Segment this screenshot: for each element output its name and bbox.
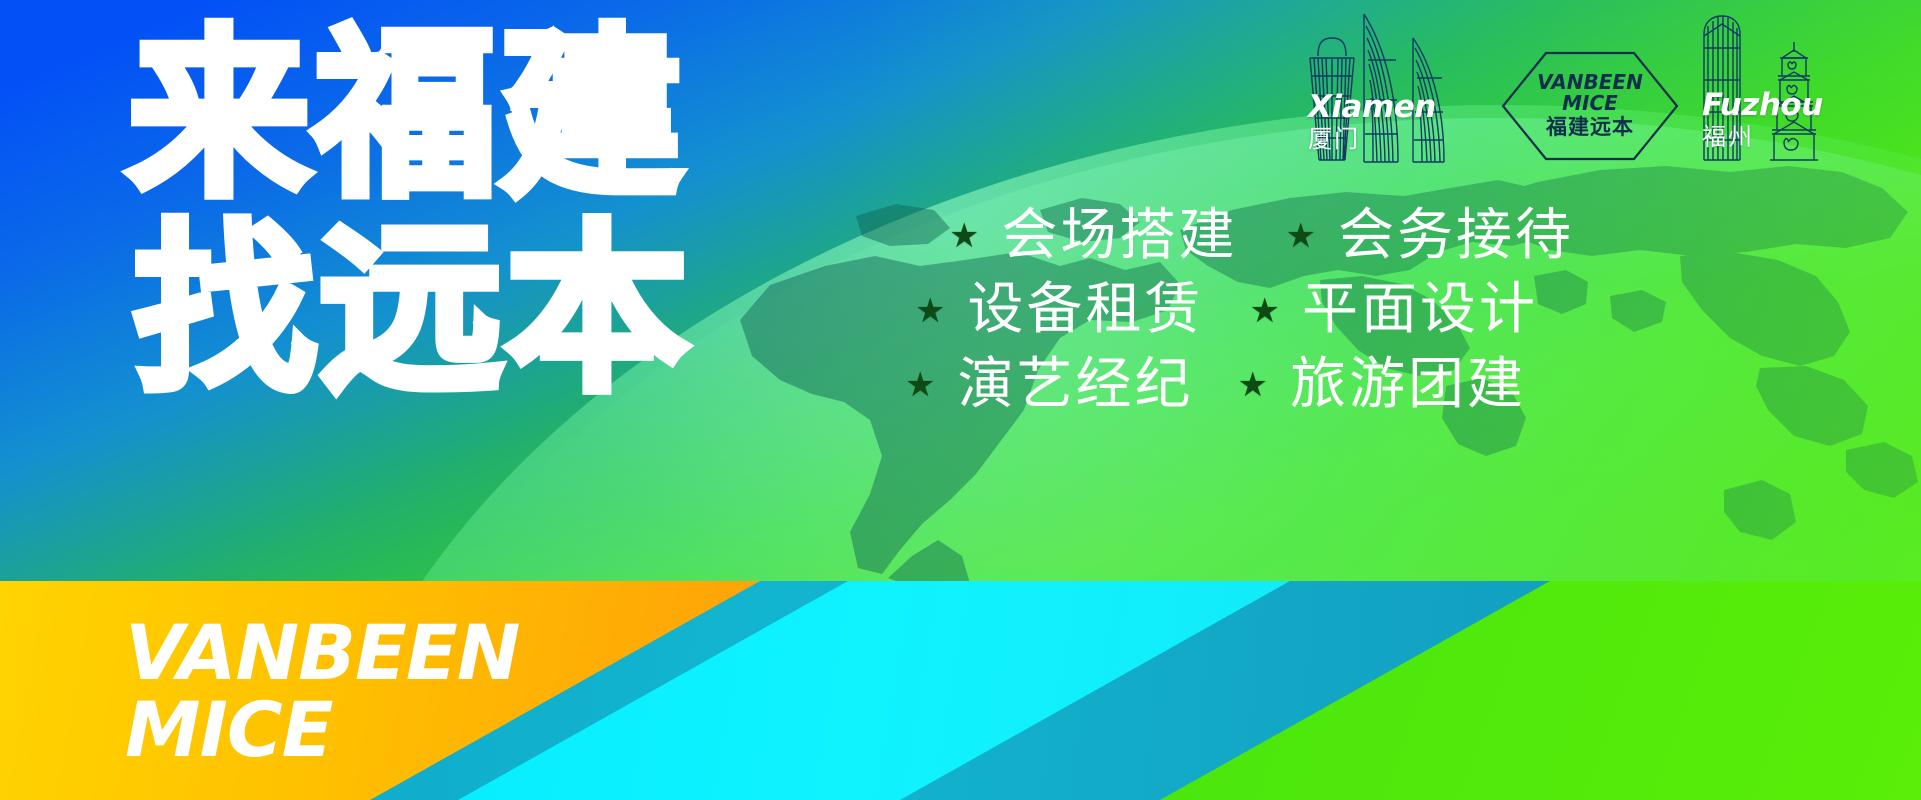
hexagon-logo-cn: 福建远本 — [1546, 116, 1634, 139]
city-name-en: Fuzhou — [1702, 90, 1823, 121]
brandmark-line-1: VANBEEN — [125, 617, 519, 690]
brandmark: VANBEEN MICE — [125, 617, 519, 767]
banner-bottom-strip: VANBEEN MICE — [0, 581, 1921, 800]
city-logo-lockup: Xiamen 厦门 VANBEEN MICE 福建远本 — [1300, 4, 1920, 184]
star-icon: ★ — [905, 368, 935, 402]
star-icon: ★ — [1285, 219, 1315, 253]
hexagon-logo-line-2: MICE — [1562, 93, 1618, 113]
city-name-en: Xiamen — [1308, 92, 1436, 123]
service-item-venue-construction: ★ 会场搭建 — [949, 206, 1237, 266]
service-label: 会场搭建 — [1001, 206, 1237, 266]
star-icon: ★ — [915, 294, 945, 328]
service-label: 旅游团建 — [1290, 355, 1526, 415]
brandmark-line-2: MICE — [125, 694, 519, 767]
service-label: 设备租赁 — [967, 280, 1203, 340]
city-label-xiamen: Xiamen 厦门 — [1308, 92, 1436, 152]
service-item-performance-agency: ★ 演艺经纪 — [905, 355, 1193, 415]
service-row: ★ 演艺经纪 ★ 旅游团建 — [905, 355, 1574, 415]
star-icon: ★ — [1237, 368, 1267, 402]
service-row: ★ 设备租赁 ★ 平面设计 — [905, 280, 1574, 340]
star-icon: ★ — [949, 219, 979, 253]
service-item-tourism-teambuilding: ★ 旅游团建 — [1237, 355, 1525, 415]
headline-line-2: 找远本 — [134, 225, 692, 396]
promotional-banner: 来福建 找远本 ★ 会场搭建 ★ 会务接待 ★ 设备租赁 — [0, 0, 1921, 800]
hexagon-logo-line-1: VANBEEN — [1537, 72, 1643, 92]
star-icon: ★ — [1249, 294, 1279, 328]
service-item-graphic-design: ★ 平面设计 — [1249, 280, 1537, 340]
service-row: ★ 会场搭建 ★ 会务接待 — [905, 206, 1574, 266]
service-label: 演艺经纪 — [957, 355, 1193, 415]
service-item-equipment-rental: ★ 设备租赁 — [915, 280, 1203, 340]
service-label: 平面设计 — [1302, 280, 1538, 340]
service-list: ★ 会场搭建 ★ 会务接待 ★ 设备租赁 ★ 平面设计 — [905, 206, 1574, 415]
city-name-cn: 厦门 — [1308, 126, 1436, 152]
city-name-cn: 福州 — [1702, 124, 1823, 150]
vanbeen-hexagon-logo: VANBEEN MICE 福建远本 — [1500, 50, 1680, 162]
headline-line-1: 来福建 — [128, 30, 692, 201]
headline: 来福建 找远本 — [128, 30, 692, 396]
city-label-fuzhou: Fuzhou 福州 — [1702, 90, 1823, 150]
banner-main-area: 来福建 找远本 ★ 会场搭建 ★ 会务接待 ★ 设备租赁 — [0, 0, 1921, 581]
service-label: 会务接待 — [1338, 206, 1574, 266]
service-item-conference-reception: ★ 会务接待 — [1285, 206, 1573, 266]
